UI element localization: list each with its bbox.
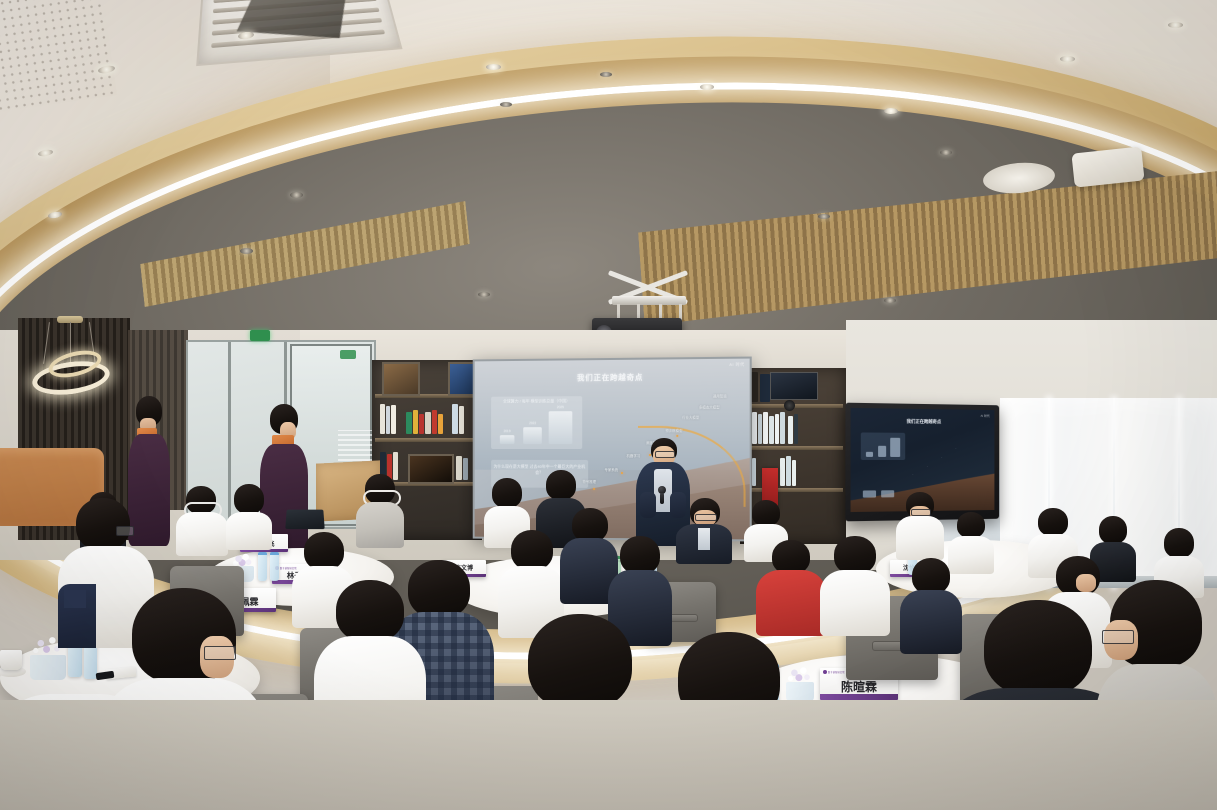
downlight-icon [486,64,501,70]
conference-room-photo: AI 时代 我们正在跨越奇点 全球算力 / 每年 模型训练总量（中国） 2019… [0,0,1217,810]
downlight-icon [290,192,303,198]
downlight-icon [240,248,253,254]
shelf-decor [408,454,454,484]
tv-watermark: AI 时代 [980,414,989,418]
water-bottle [258,552,267,581]
downlight-icon [700,84,714,90]
exit-sign-icon [250,330,270,341]
acoustic-ceiling-panel [0,0,117,112]
audience-member [896,492,944,560]
audience-member [176,486,228,556]
audience-member-foreground-suit [676,498,732,564]
slide-title: 我们正在跨越奇点 [475,371,750,384]
slide-bar-value: 2022 [524,421,542,425]
slide-curve-node: 行业大模型 [682,415,699,420]
downlight-icon [818,214,830,219]
downlight-icon [478,292,490,297]
slide-stat-panel: 全球算力 / 每年 模型训练总量（中国） 2019 2022 2025 [491,396,583,449]
downlight-icon [884,108,898,114]
slide-stat-panel-label: 全球算力 / 每年 模型训练总量（中国） [491,398,583,404]
glasses-icon [911,509,931,516]
tv-slide-stat-panel [861,433,905,460]
audience-member [820,536,890,636]
shelf-camera-icon [784,400,795,411]
glasses-icon [116,526,134,536]
tv-logo-row [863,490,894,497]
tv-slide-title: 我们正在跨越奇点 [851,418,995,426]
placard-logo: 数字创新研究院 [823,670,845,674]
slide-bar-value: 2019 [500,429,515,433]
placard-org: 数字创新研究院 [828,670,845,674]
downlight-icon [600,72,612,77]
placard-name: 陈暄霖 [841,681,877,693]
ceiling-sensor-icon [1071,146,1144,187]
laptop[interactable] [285,510,324,529]
exit-sign-icon [340,350,356,359]
audience-member [356,474,404,548]
glasses-icon [655,451,675,458]
downlight-icon [1168,22,1183,28]
org-logo-icon [823,670,827,674]
slide-curve-node: 专家系统 [604,467,618,472]
slide-curve-node: 多模态大模型 [699,404,720,409]
presenter-microphone [658,486,666,504]
glasses-icon [204,646,236,660]
audience-member [226,484,272,550]
audience-member-red [756,540,826,636]
slide-curve-node: 通用智能 [713,393,727,398]
coffee-cup [0,650,22,670]
downlight-icon [1060,56,1075,62]
downlight-icon [500,102,512,107]
slide-curve-node: 预训练模型 [665,427,682,432]
tv-logo-icon [863,490,876,497]
tv-logo-icon [881,490,894,497]
floor [0,700,1217,810]
shelf-artwork [382,362,420,396]
glasses-icon [1102,630,1134,644]
water-bottle [270,552,279,581]
downlight-icon [884,298,896,303]
glasses-icon [695,514,717,521]
downlight-icon [940,150,952,155]
slide-bar-value: 2025 [548,405,572,409]
slide-watermark: AI 时代 [729,362,744,368]
brand-logo-icon [64,590,86,608]
shelf-monitor-icon [770,372,818,400]
